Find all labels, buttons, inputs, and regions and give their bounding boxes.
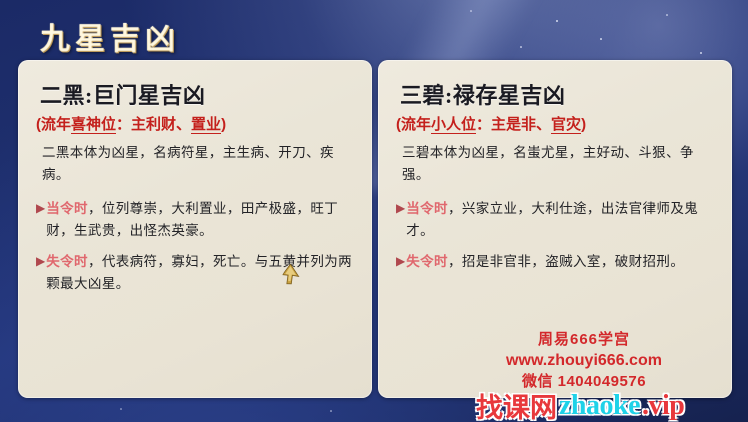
bullet-item: ▶ 当令时，兴家立业，大利仕途，出法官律师及鬼才。	[396, 198, 718, 242]
subtitle-part: 流年	[41, 116, 71, 133]
subtitle-part: ：主是非、	[476, 116, 551, 133]
bullet-keyword: 当令时	[46, 201, 88, 216]
triangle-right-icon: ▶	[36, 252, 45, 296]
star-decoration	[556, 20, 558, 22]
star-decoration	[666, 14, 668, 16]
bullet-text: 失令时，代表病符，寡妇，死亡。与五黄并列为两颗最大凶星。	[46, 251, 358, 295]
slide-canvas: 九星吉凶 二黑:巨门星吉凶 (流年喜神位：主利财、置业) 二黑本体为凶星，名病符…	[0, 0, 748, 422]
subtitle-part-underlined: 小人位	[431, 116, 476, 134]
bullet-keyword: 失令时	[46, 254, 88, 269]
card-container: 二黑:巨门星吉凶 (流年喜神位：主利财、置业) 二黑本体为凶星，名病符星，主生病…	[18, 60, 732, 398]
star-card-san-bi: 三碧:禄存星吉凶 (流年小人位：主是非、官灾) 三碧本体为凶星，名蚩尤星，主好动…	[378, 60, 732, 398]
card-subtitle: (流年喜神位：主利财、置业)	[36, 113, 358, 134]
star-decoration	[520, 46, 522, 48]
subtitle-close-paren: )	[581, 116, 586, 133]
bullet-text: 失令时，招是非官非，盗贼入室，破财招刑。	[406, 251, 684, 273]
triangle-right-icon: ▶	[36, 199, 45, 243]
star-decoration	[330, 410, 332, 412]
bullet-body: ，兴家立业，大利仕途，出法官律师及鬼才。	[406, 201, 698, 238]
card-subtitle: (流年小人位：主是非、官灾)	[396, 113, 718, 134]
subtitle-part: 流年	[401, 116, 431, 133]
star-decoration	[700, 52, 702, 54]
bullet-text: 当令时，兴家立业，大利仕途，出法官律师及鬼才。	[406, 198, 718, 242]
subtitle-close-paren: )	[221, 116, 226, 133]
bullet-text: 当令时，位列尊崇，大利置业，田产极盛，旺丁财，生武贵，出怪杰英豪。	[46, 198, 358, 242]
triangle-right-icon: ▶	[396, 252, 405, 274]
star-card-er-hei: 二黑:巨门星吉凶 (流年喜神位：主利财、置业) 二黑本体为凶星，名病符星，主生病…	[18, 60, 372, 398]
card-title: 二黑:巨门星吉凶	[40, 78, 358, 110]
subtitle-part-underlined: 官灾	[551, 116, 581, 134]
star-decoration	[120, 408, 122, 410]
subtitle-part: ：主利财、	[116, 116, 191, 133]
star-decoration	[600, 38, 602, 40]
bullet-body: ，招是非官非，盗贼入室，破财招刑。	[448, 254, 684, 269]
card-body-text: 二黑本体为凶星，名病符星，主生病、开刀、疾病。	[42, 142, 358, 186]
bullet-keyword: 失令时	[406, 254, 448, 269]
subtitle-part-underlined: 喜神位	[71, 116, 116, 134]
bullet-item: ▶ 失令时，代表病符，寡妇，死亡。与五黄并列为两颗最大凶星。	[36, 251, 358, 295]
bullet-body: ，代表病符，寡妇，死亡。与五黄并列为两颗最大凶星。	[46, 254, 352, 291]
bullet-item: ▶ 失令时，招是非官非，盗贼入室，破财招刑。	[396, 251, 718, 273]
bullet-body: ，位列尊崇，大利置业，田产极盛，旺丁财，生武贵，出怪杰英豪。	[46, 201, 338, 238]
subtitle-part-underlined: 置业	[191, 116, 221, 134]
card-body-text: 三碧本体为凶星，名蚩尤星，主好动、斗狠、争强。	[402, 142, 718, 186]
bullet-keyword: 当令时	[406, 201, 448, 216]
star-decoration	[470, 10, 472, 12]
triangle-right-icon: ▶	[396, 199, 405, 243]
card-title: 三碧:禄存星吉凶	[400, 78, 718, 110]
bullet-item: ▶ 当令时，位列尊崇，大利置业，田产极盛，旺丁财，生武贵，出怪杰英豪。	[36, 198, 358, 242]
page-title: 九星吉凶	[40, 14, 180, 58]
